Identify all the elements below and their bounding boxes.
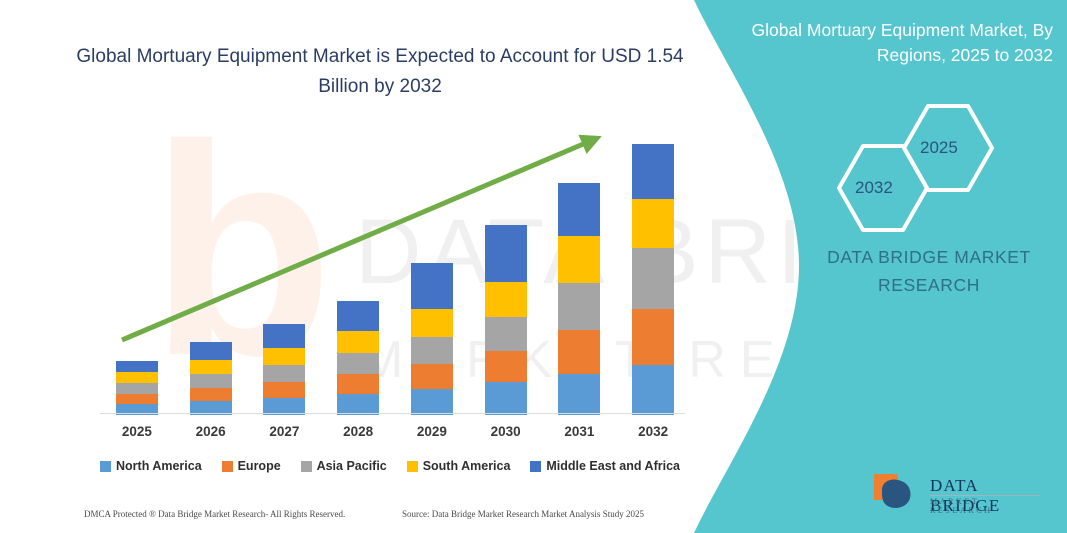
bar-2030	[485, 225, 527, 415]
chart-legend: North AmericaEuropeAsia PacificSouth Ame…	[100, 459, 680, 473]
legend-item-south-america[interactable]: South America	[407, 459, 511, 473]
logo-mark-icon	[868, 470, 926, 518]
hexagon-2032-label: 2032	[855, 178, 893, 198]
footer-copyright: DMCA Protected ® Data Bridge Market Rese…	[84, 509, 345, 519]
bar-segment-north-america	[411, 389, 453, 415]
x-axis-label-2028: 2028	[323, 424, 393, 439]
bar-segment-asia-pacific	[411, 337, 453, 364]
data-bridge-logo: DATA BRIDGE MARKET RESEARCH	[868, 470, 1043, 518]
legend-label: Europe	[238, 459, 281, 473]
legend-item-europe[interactable]: Europe	[222, 459, 281, 473]
bar-segment-asia-pacific	[190, 374, 232, 388]
bar-segment-europe	[337, 374, 379, 394]
bar-segment-middle-east-and-africa	[632, 144, 674, 199]
bar-segment-asia-pacific	[337, 353, 379, 374]
legend-swatch-icon	[530, 461, 541, 472]
legend-swatch-icon	[301, 461, 312, 472]
logo-subtitle: MARKET RESEARCH	[930, 497, 1043, 515]
x-axis-label-2026: 2026	[176, 424, 246, 439]
bar-segment-europe	[558, 330, 600, 374]
bar-segment-middle-east-and-africa	[190, 342, 232, 360]
legend-item-middle-east-and-africa[interactable]: Middle East and Africa	[530, 459, 680, 473]
bar-segment-north-america	[485, 382, 527, 415]
bar-2031	[558, 183, 600, 415]
bar-2028	[337, 301, 379, 415]
bar-segment-middle-east-and-africa	[337, 301, 379, 331]
bar-segment-north-america	[632, 365, 674, 415]
bar-segment-middle-east-and-africa	[485, 225, 527, 282]
bar-segment-north-america	[558, 374, 600, 415]
x-axis-label-2030: 2030	[471, 424, 541, 439]
x-axis-label-2031: 2031	[544, 424, 614, 439]
legend-item-north-america[interactable]: North America	[100, 459, 202, 473]
legend-item-asia-pacific[interactable]: Asia Pacific	[301, 459, 387, 473]
bar-segment-middle-east-and-africa	[558, 183, 600, 236]
bar-segment-asia-pacific	[116, 383, 158, 394]
page-title: Global Mortuary Equipment Market is Expe…	[60, 42, 700, 102]
bar-segment-asia-pacific	[558, 283, 600, 330]
x-axis-label-2025: 2025	[102, 424, 172, 439]
legend-swatch-icon	[407, 461, 418, 472]
bar-segment-south-america	[116, 372, 158, 383]
hexagon-2025-label: 2025	[920, 138, 958, 158]
bar-2032	[632, 144, 674, 415]
x-axis-labels: 20252026202720282029203020312032	[100, 424, 690, 444]
bar-2025	[116, 361, 158, 415]
bar-segment-asia-pacific	[485, 317, 527, 351]
bar-segment-middle-east-and-africa	[263, 324, 305, 348]
legend-label: North America	[116, 459, 202, 473]
x-axis-line	[100, 413, 685, 414]
bar-segment-south-america	[411, 309, 453, 337]
bar-segment-south-america	[337, 331, 379, 353]
footer-source: Source: Data Bridge Market Research Mark…	[402, 509, 644, 519]
bar-segment-europe	[485, 351, 527, 382]
bar-segment-europe	[632, 309, 674, 365]
bar-2026	[190, 342, 232, 415]
bar-segment-middle-east-and-africa	[116, 361, 158, 372]
bar-segment-europe	[116, 394, 158, 404]
bar-segment-asia-pacific	[263, 365, 305, 382]
legend-swatch-icon	[100, 461, 111, 472]
bar-segment-south-america	[190, 360, 232, 374]
bar-segment-south-america	[263, 348, 305, 365]
bar-2029	[411, 263, 453, 415]
bar-segment-south-america	[632, 199, 674, 248]
bar-segment-north-america	[337, 394, 379, 415]
stacked-bar-plot	[100, 115, 690, 415]
x-axis-label-2027: 2027	[249, 424, 319, 439]
bar-segment-south-america	[485, 282, 527, 317]
legend-label: Asia Pacific	[317, 459, 387, 473]
legend-label: Middle East and Africa	[546, 459, 680, 473]
x-axis-label-2032: 2032	[618, 424, 688, 439]
bar-segment-europe	[411, 364, 453, 389]
panel-title: Global Mortuary Equipment Market, By Reg…	[735, 18, 1053, 68]
bar-segment-asia-pacific	[632, 248, 674, 309]
bar-segment-south-america	[558, 236, 600, 283]
legend-swatch-icon	[222, 461, 233, 472]
bar-segment-europe	[263, 382, 305, 398]
bar-segment-middle-east-and-africa	[411, 263, 453, 309]
bar-2027	[263, 324, 305, 415]
legend-label: South America	[423, 459, 511, 473]
bar-segment-europe	[190, 388, 232, 401]
brand-name-text: DATA BRIDGE MARKET RESEARCH	[800, 243, 1058, 299]
x-axis-label-2029: 2029	[397, 424, 467, 439]
